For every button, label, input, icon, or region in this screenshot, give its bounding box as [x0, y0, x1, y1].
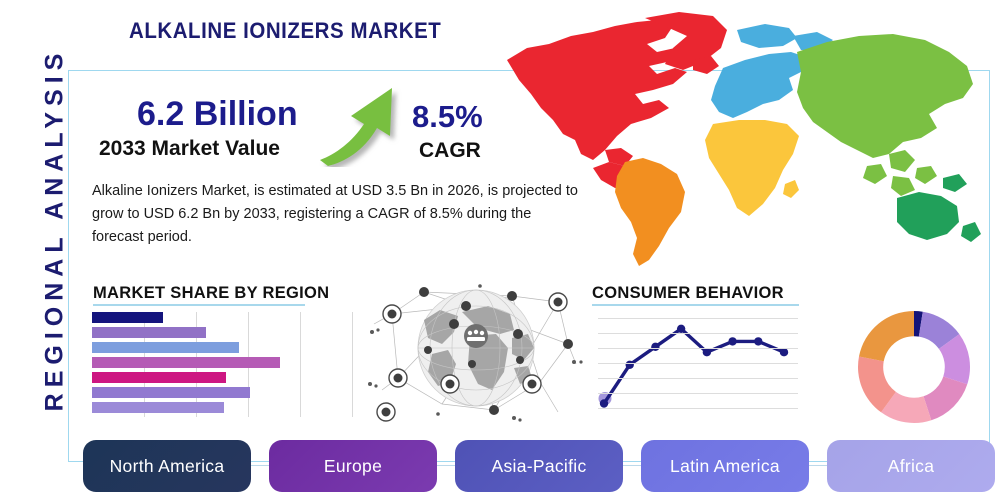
- pill-connector: [251, 465, 269, 466]
- donut-segment: [859, 311, 914, 361]
- line-chart-gridlines: [598, 310, 798, 418]
- region-pill-label: Latin America: [670, 456, 780, 477]
- pill-connector: [809, 465, 827, 466]
- market-value-label: 2033 Market Value: [99, 137, 280, 161]
- world-map-icon: [497, 8, 997, 270]
- consumer-behavior-line-chart: [598, 310, 798, 418]
- page-title: ALKALINE IONIZERS MARKET: [129, 18, 441, 44]
- regional-donut-chart: [855, 308, 973, 426]
- bar-chart-bar: [92, 327, 206, 338]
- region-pill-bar: North AmericaEuropeAsia-PacificLatin Ame…: [83, 440, 996, 492]
- infographic-root: REGIONAL ANALYSIS ALKALINE IONIZERS MARK…: [0, 0, 1000, 500]
- global-network-icon: [362, 272, 590, 430]
- pill-connector: [437, 465, 455, 466]
- bar-chart-bar: [92, 372, 226, 383]
- cagr-number: 8.5%: [412, 99, 483, 135]
- market-value-number: 6.2 Billion: [137, 95, 298, 134]
- bar-chart-bar: [92, 342, 239, 353]
- donut-segment: [924, 377, 968, 421]
- up-right-arrow-icon: [318, 82, 408, 167]
- consumer-behavior-rule: [592, 304, 799, 306]
- bar-chart-bar: [92, 402, 224, 413]
- side-title: REGIONAL ANALYSIS: [41, 30, 70, 430]
- market-share-heading: MARKET SHARE BY REGION: [93, 284, 329, 303]
- region-pill-label: Africa: [888, 456, 935, 477]
- region-pill[interactable]: Africa: [827, 440, 995, 492]
- cagr-label: CAGR: [419, 139, 481, 163]
- region-pill[interactable]: Latin America: [641, 440, 809, 492]
- pill-connector: [623, 465, 641, 466]
- bar-chart-bar: [92, 357, 280, 368]
- region-pill-label: Europe: [324, 456, 382, 477]
- region-pill[interactable]: Asia-Pacific: [455, 440, 623, 492]
- bar-chart-bar: [92, 387, 250, 398]
- consumer-behavior-heading: CONSUMER BEHAVIOR: [592, 284, 784, 303]
- region-pill-label: North America: [110, 456, 225, 477]
- bar-chart-bar: [92, 312, 163, 323]
- market-share-bar-chart: [92, 312, 297, 417]
- region-pill[interactable]: North America: [83, 440, 251, 492]
- region-pill-label: Asia-Pacific: [491, 456, 586, 477]
- market-share-rule: [93, 304, 305, 306]
- region-pill[interactable]: Europe: [269, 440, 437, 492]
